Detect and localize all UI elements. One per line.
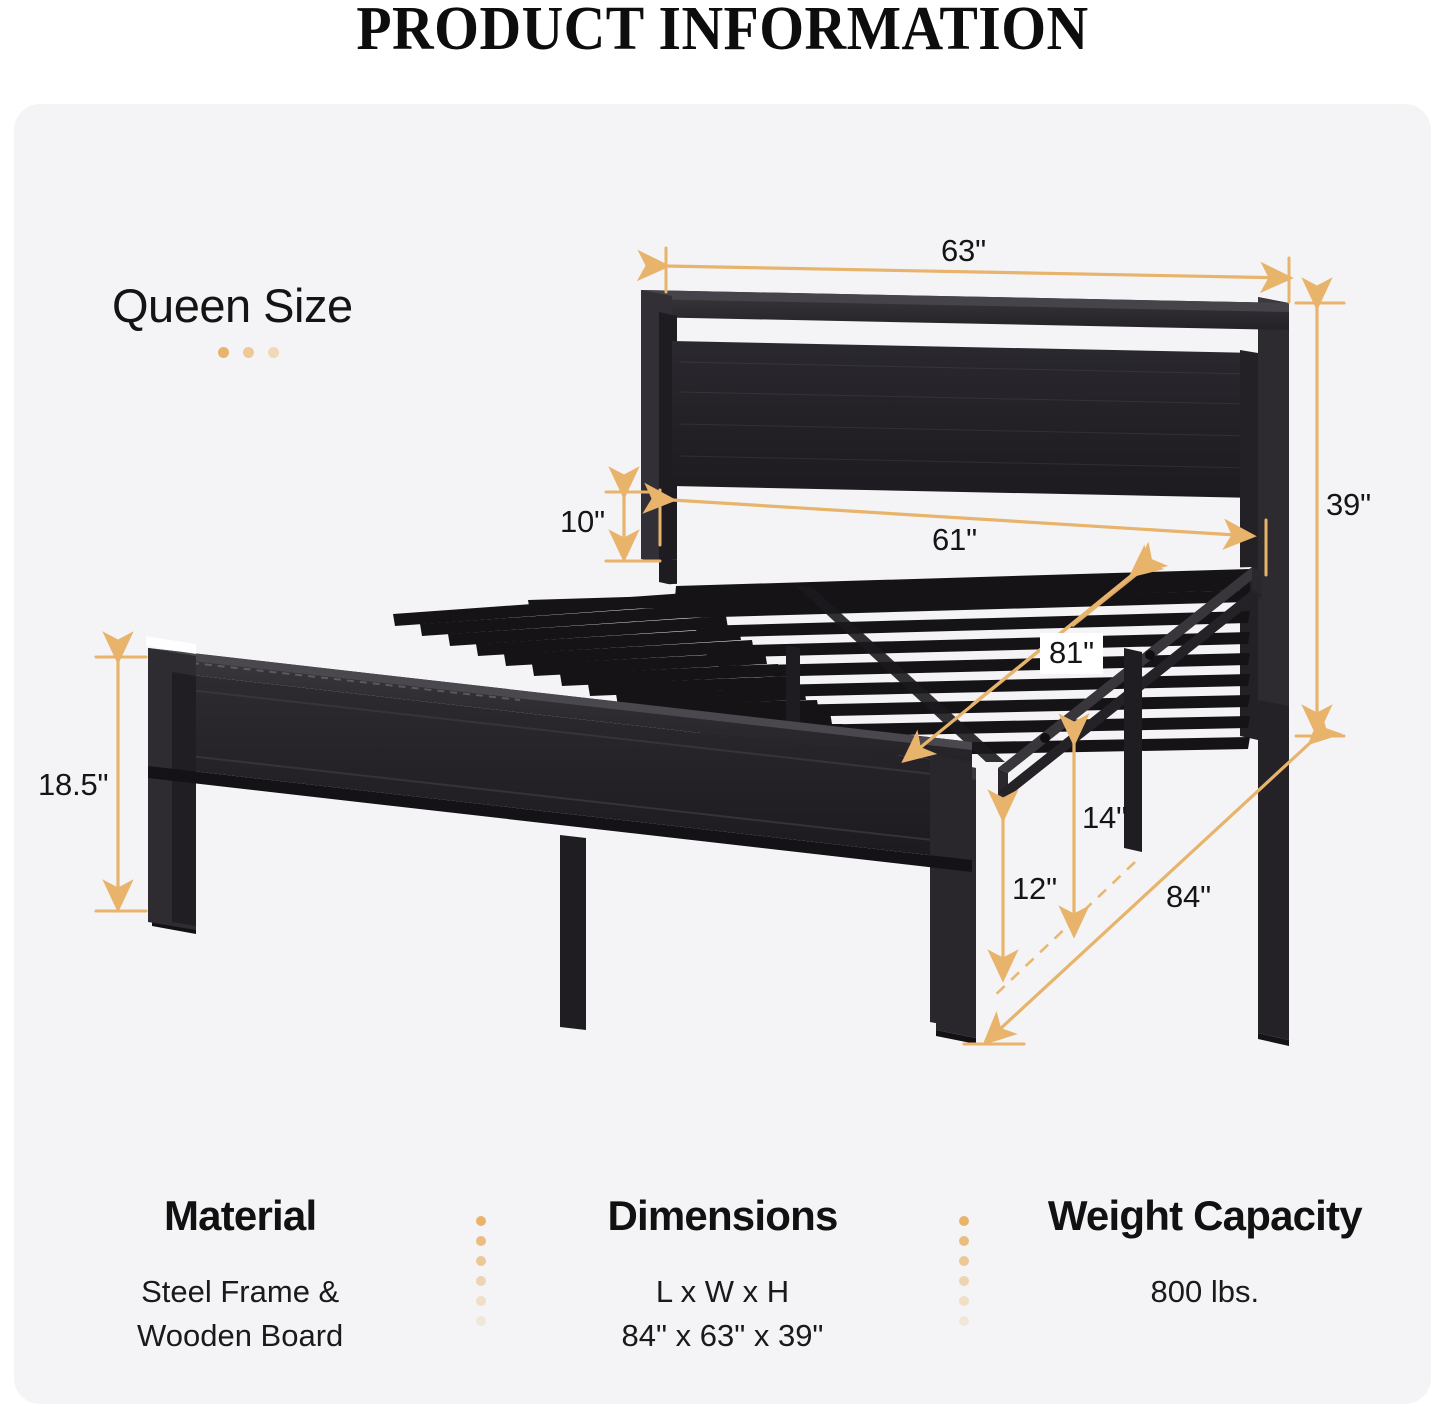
dot-3 — [268, 347, 279, 358]
spec-dimensions-title: Dimensions — [496, 1192, 948, 1240]
dimension-label-footboard-height: 18.5" — [38, 767, 108, 803]
dimension-label-headboard-gap-height: 10" — [560, 504, 605, 540]
dimension-label-total-height: 39" — [1326, 487, 1371, 523]
spec-material-line2: Wooden Board — [14, 1314, 466, 1358]
spec-dimensions-line1: L x W x H — [496, 1270, 948, 1314]
dot-1 — [218, 347, 229, 358]
specs-strip: Material Steel Frame & Wooden Board Dime… — [14, 1178, 1431, 1388]
spec-material-body: Steel Frame & Wooden Board — [14, 1270, 466, 1358]
spec-weight-capacity: Weight Capacity 800 lbs. — [979, 1178, 1431, 1314]
product-information-page: PRODUCT INFORMATION — [0, 0, 1445, 1420]
spec-dimensions-body: L x W x H 84" x 63" x 39" — [496, 1270, 948, 1358]
spec-dimensions-line2: 84" x 63" x 39" — [496, 1314, 948, 1358]
dimension-label-headboard-panel-width: 61" — [932, 522, 977, 558]
spec-dimensions: Dimensions L x W x H 84" x 63" x 39" — [496, 1178, 948, 1358]
decorative-dots — [218, 347, 353, 358]
dimension-label-total-length: 84" — [1166, 879, 1211, 915]
dimension-label-headboard-width: 63" — [941, 233, 986, 269]
spec-material-line1: Steel Frame & — [14, 1270, 466, 1314]
spec-divider-dots-2 — [949, 1178, 979, 1326]
spec-weight-line1: 800 lbs. — [979, 1270, 1431, 1314]
spec-material: Material Steel Frame & Wooden Board — [14, 1178, 466, 1358]
size-label-group: Queen Size — [112, 278, 353, 358]
dimension-label-inner-length: 81" — [1040, 633, 1103, 674]
spec-divider-dots-1 — [466, 1178, 496, 1326]
spec-material-title: Material — [14, 1192, 466, 1240]
dimension-label-under-bed-clearance: 12" — [1012, 871, 1057, 907]
spec-weight-body: 800 lbs. — [979, 1270, 1431, 1314]
dimension-label-clearance-to-slat: 14" — [1082, 800, 1127, 836]
dot-2 — [243, 347, 254, 358]
spec-weight-title: Weight Capacity — [979, 1192, 1431, 1240]
size-label: Queen Size — [112, 278, 353, 333]
